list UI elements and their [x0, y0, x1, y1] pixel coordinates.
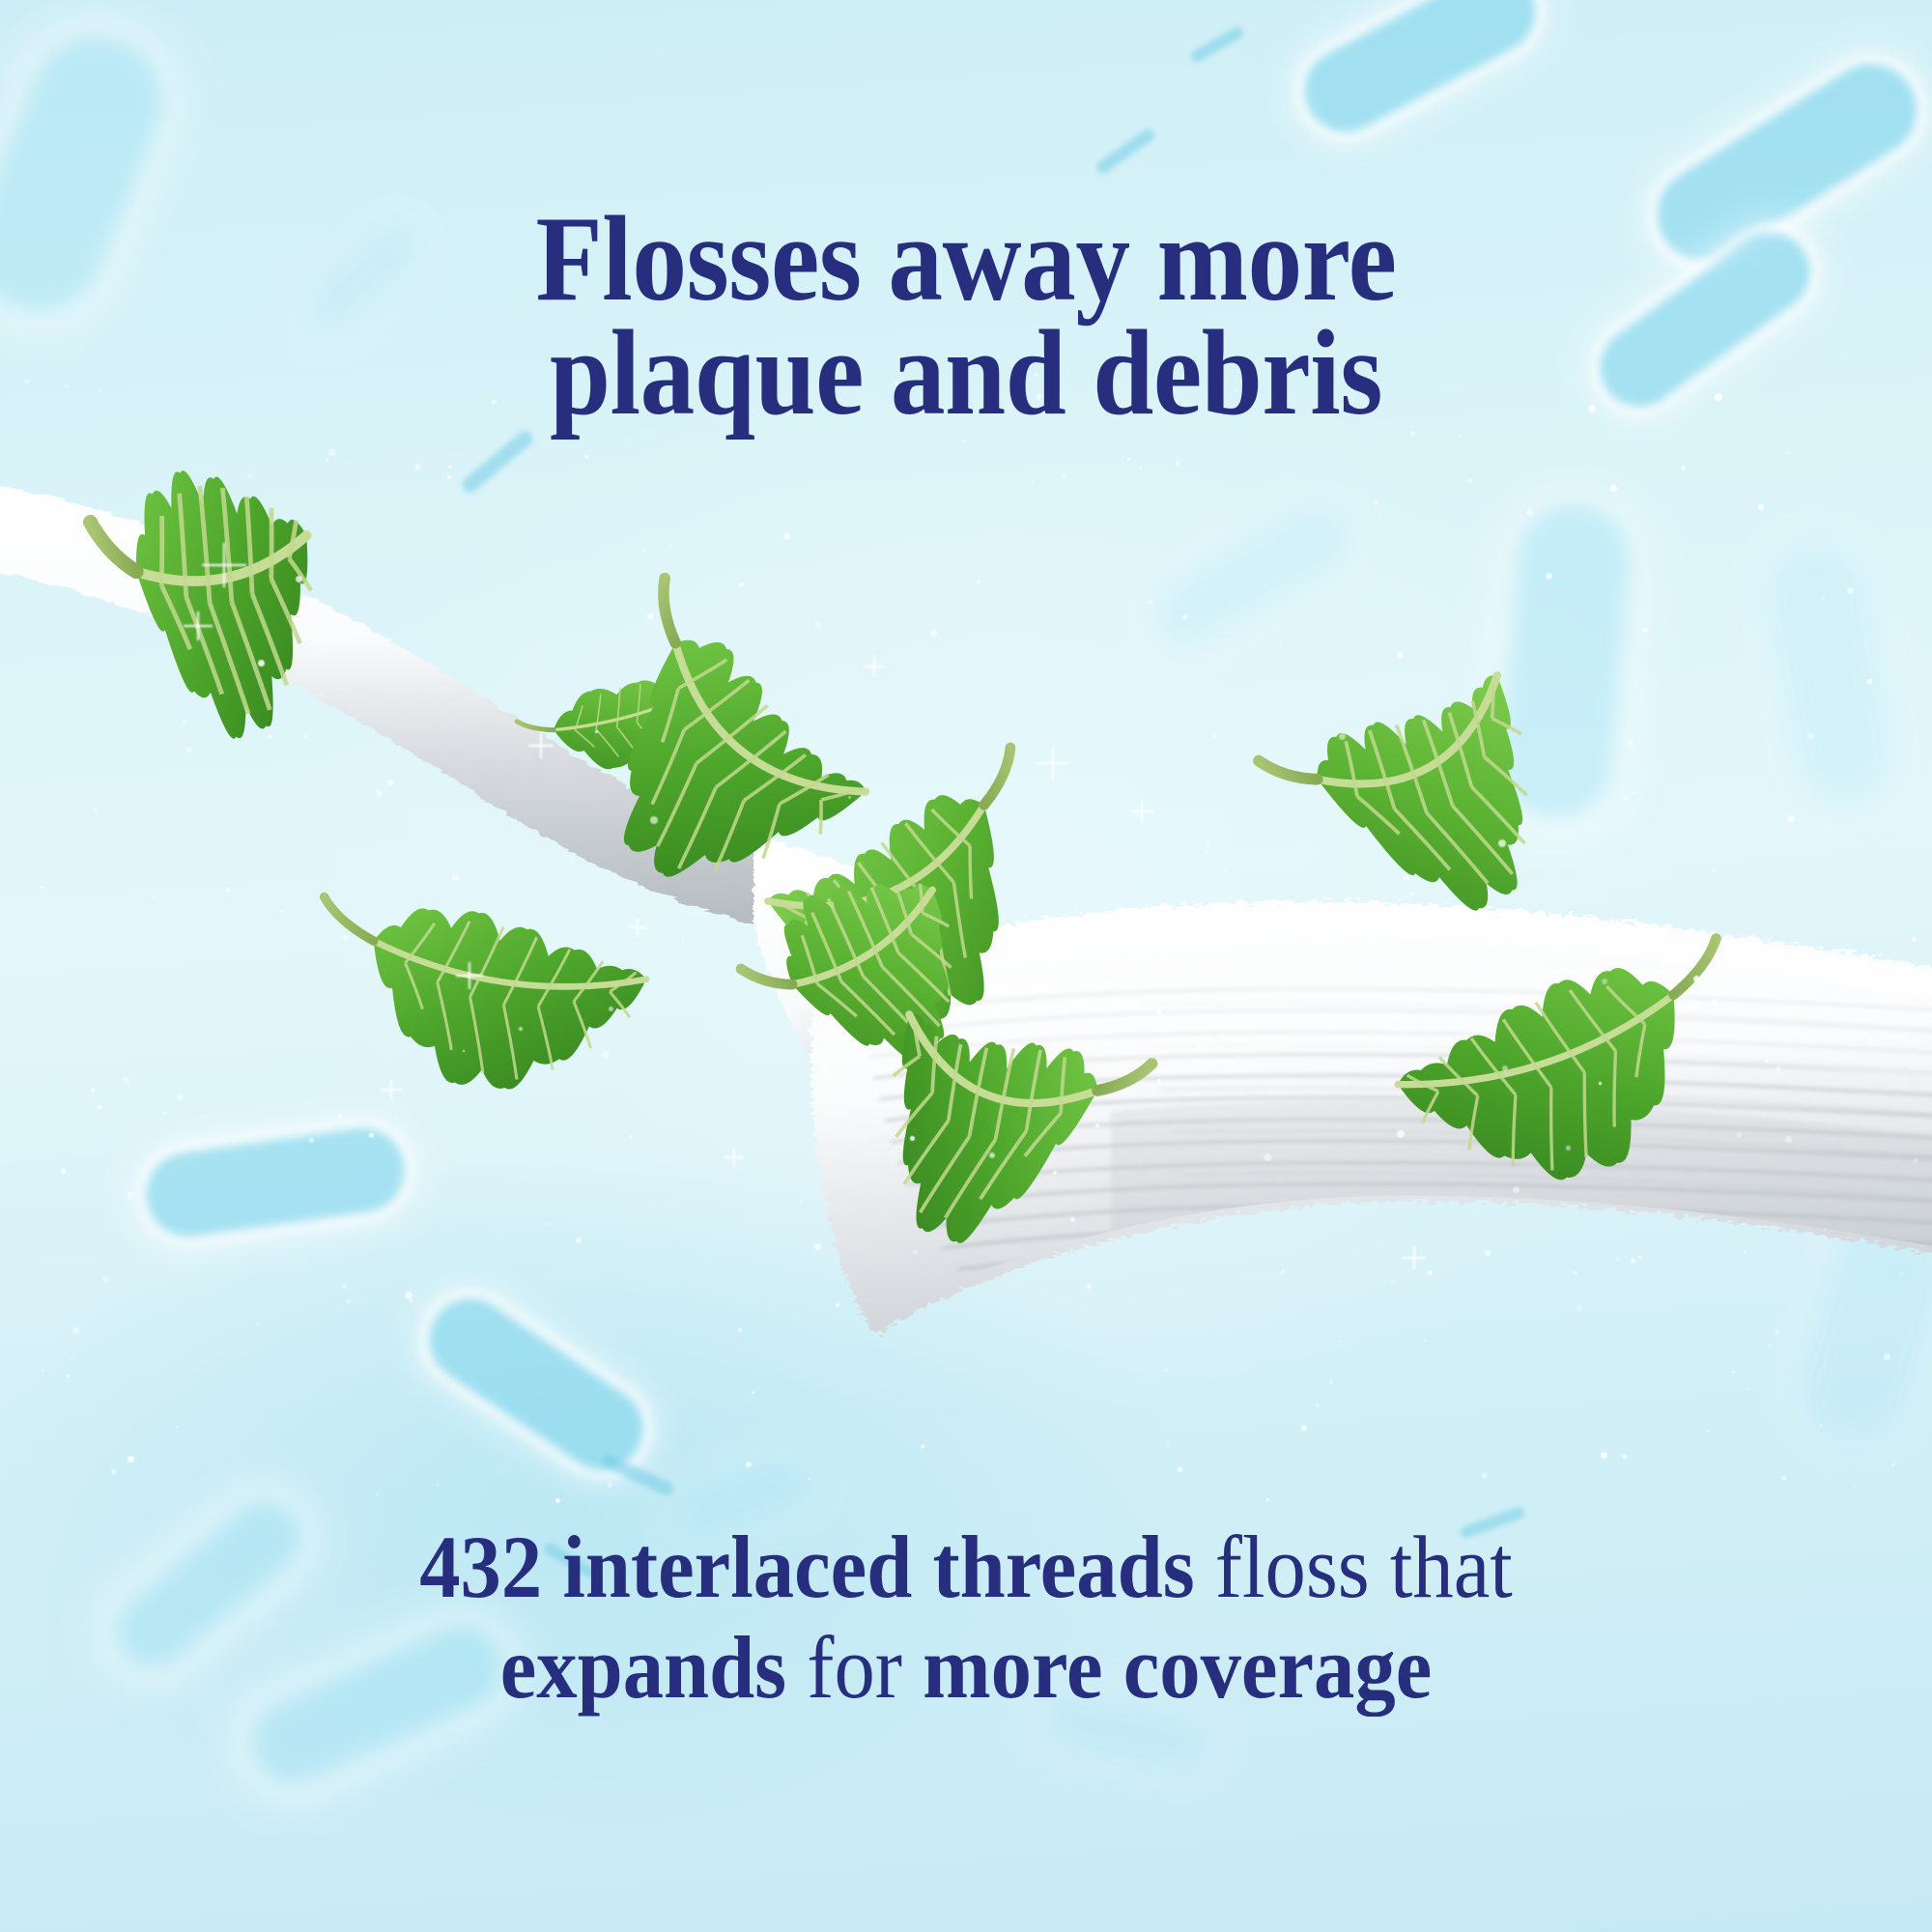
- sparkle-dot-icon: [99, 520, 103, 525]
- sparkle-dot-icon: [1610, 485, 1617, 492]
- marketing-banner: Flosses away more plaque and debris 432 …: [0, 0, 1932, 1932]
- sparkle-dot-icon: [1867, 1037, 1874, 1043]
- sparkle-dot-icon: [930, 630, 937, 637]
- sparkle-dot-icon: [1747, 1388, 1748, 1390]
- sparkle-dot-icon: [1127, 458, 1130, 461]
- sparkle-dot-icon: [921, 1444, 925, 1449]
- sparkle-dot-icon: [752, 1391, 754, 1394]
- more-coverage-phrase: more coverage: [923, 1618, 1432, 1717]
- sparkle-dot-icon: [1775, 1330, 1779, 1335]
- sparkle-dot-icon: [98, 1105, 101, 1109]
- sparkle-dot-icon: [1264, 1153, 1271, 1161]
- floss-that-phrase: floss that: [1195, 1518, 1513, 1616]
- sparkle-dot-icon: [1891, 1463, 1894, 1466]
- sparkle-dot-icon: [95, 809, 98, 811]
- sparkle-dot-icon: [1375, 500, 1378, 504]
- benefit-statement: 432 interlaced threads floss that expand…: [77, 1517, 1855, 1718]
- expands-word: expands: [500, 1618, 786, 1717]
- sparkle-dot-icon: [1681, 466, 1686, 470]
- sparkle-dot-icon: [1301, 1425, 1307, 1431]
- sparkle-dot-icon: [201, 1116, 203, 1118]
- sparkle-dot-icon: [682, 936, 684, 938]
- sparkle-dot-icon: [1785, 1136, 1792, 1143]
- sparkle-dot-icon: [1338, 1340, 1340, 1342]
- sparkle-dot-icon: [1424, 1340, 1426, 1342]
- sparkle-dot-icon: [809, 1478, 810, 1480]
- sparkle-dot-icon: [1631, 1259, 1635, 1264]
- sparkle-dot-icon: [1224, 868, 1227, 871]
- sparkle-dot-icon: [555, 1498, 560, 1503]
- sparkle-dot-icon: [1847, 587, 1854, 594]
- sparkle-dot-icon: [1219, 1046, 1221, 1048]
- sparkle-dot-icon: [647, 613, 653, 619]
- sparkle-dot-icon: [1713, 869, 1716, 872]
- sparkle-dot-icon: [153, 896, 155, 898]
- sparkle-dot-icon: [1485, 1250, 1491, 1256]
- sparkle-dot-icon: [342, 1284, 347, 1289]
- sparkle-dot-icon: [1562, 947, 1568, 952]
- sparkle-dot-icon: [1599, 1082, 1602, 1085]
- sparkle-dot-icon: [1397, 652, 1403, 658]
- sparkle-dot-icon: [1566, 1146, 1571, 1151]
- sparkle-dot-icon: [1410, 431, 1415, 436]
- sparkle-dot-icon: [343, 934, 349, 940]
- sparkle-dot-icon: [436, 1484, 439, 1487]
- sparkle-dot-icon: [1197, 1044, 1204, 1051]
- sparkle-dot-icon: [309, 1138, 314, 1143]
- sparkle-dot-icon: [608, 1483, 612, 1488]
- sparkle-dot-icon: [65, 384, 69, 387]
- sparkle-star-icon: [629, 919, 646, 936]
- sparkle-dot-icon: [1788, 815, 1795, 822]
- sparkle-dot-icon: [746, 1462, 752, 1467]
- sparkle-dot-icon: [163, 1112, 166, 1115]
- sparkle-dot-icon: [25, 380, 29, 384]
- sparkle-dot-icon: [1206, 842, 1211, 848]
- sparkle-dot-icon: [703, 1266, 705, 1268]
- sparkle-dot-icon: [1404, 875, 1409, 881]
- sparkle-dot-icon: [1573, 1270, 1577, 1275]
- thread-count-phrase: 432 interlaced threads: [419, 1518, 1194, 1616]
- sparkle-dot-icon: [177, 1094, 183, 1100]
- sparkle-dot-icon: [1820, 1424, 1822, 1426]
- sparkle-dot-icon: [848, 796, 851, 799]
- sparkle-dot-icon: [26, 524, 33, 530]
- sparkle-dot-icon: [1167, 1440, 1170, 1443]
- sparkle-dot-icon: [602, 1051, 610, 1059]
- sparkle-dot-icon: [910, 1136, 915, 1141]
- sparkle-star-icon: [864, 656, 885, 677]
- sparkle-dot-icon: [1156, 1009, 1161, 1014]
- sparkle-dot-icon: [1098, 586, 1100, 588]
- sparkle-star-icon: [724, 1148, 744, 1167]
- sparkle-star-icon: [528, 733, 554, 758]
- sparkle-dot-icon: [650, 816, 658, 824]
- benefit-row-2: expands for more coverage: [77, 1617, 1855, 1718]
- sparkle-dot-icon: [1744, 1250, 1747, 1253]
- sparkle-dot-icon: [1637, 1255, 1642, 1260]
- sparkle-dot-icon: [629, 1135, 633, 1139]
- sparkle-dot-icon: [977, 580, 980, 583]
- headline-line-2: plaque and debris: [97, 317, 1835, 431]
- page-title: Flosses away more plaque and debris: [97, 203, 1835, 431]
- sparkle-dot-icon: [1397, 1130, 1405, 1138]
- sparkle-dot-icon: [1758, 504, 1764, 510]
- sparkle-dot-icon: [576, 1237, 582, 1243]
- sparkle-dot-icon: [1808, 733, 1814, 739]
- sparkle-dot-icon: [338, 1114, 342, 1118]
- sparkle-dot-icon: [668, 545, 670, 547]
- sparkle-dot-icon: [280, 910, 283, 913]
- sparkle-dot-icon: [1176, 461, 1180, 466]
- sparkle-dot-icon: [440, 1085, 442, 1087]
- sparkle-dot-icon: [1408, 909, 1416, 917]
- sparkle-dot-icon: [1157, 1079, 1161, 1083]
- sparkle-dot-icon: [1821, 595, 1825, 599]
- sparkle-dot-icon: [405, 1292, 412, 1299]
- sparkle-dot-icon: [1782, 1476, 1786, 1480]
- sparkle-dot-icon: [248, 474, 253, 479]
- sparkle-star-icon: [456, 962, 483, 989]
- sparkle-dot-icon: [1070, 1217, 1075, 1222]
- sparkle-dot-icon: [609, 1007, 613, 1011]
- sparkle-dot-icon: [1754, 978, 1761, 984]
- sparkle-dot-icon: [127, 1191, 134, 1199]
- sparkle-dot-icon: [1428, 1270, 1433, 1275]
- sparkle-dot-icon: [128, 1456, 134, 1463]
- sparkle-dot-icon: [1642, 628, 1647, 633]
- sparkle-star-icon: [381, 1079, 402, 1100]
- sparkle-dot-icon: [1912, 937, 1917, 942]
- sparkle-dot-icon: [1329, 1380, 1333, 1384]
- sparkle-dot-icon: [1482, 1473, 1487, 1478]
- sparkle-dot-icon: [1460, 436, 1462, 438]
- sparkle-dot-icon: [913, 1250, 918, 1255]
- sparkle-dot-icon: [258, 660, 265, 667]
- sparkle-dot-icon: [988, 1186, 990, 1188]
- sparkle-star-icon: [184, 611, 213, 640]
- sparkle-dot-icon: [1526, 509, 1533, 516]
- sparkle-dot-icon: [67, 1375, 70, 1378]
- sparkle-dot-icon: [387, 780, 393, 785]
- sparkle-dot-icon: [303, 734, 307, 738]
- sparkle-dot-icon: [1626, 738, 1634, 746]
- sparkle-dot-icon: [1712, 999, 1718, 1005]
- sparkle-dot-icon: [463, 1050, 465, 1052]
- sparkle-star-icon: [202, 543, 246, 587]
- sparkle-dot-icon: [1732, 1371, 1735, 1374]
- sparkle-dot-icon: [447, 475, 451, 479]
- sparkle-star-icon: [1403, 1246, 1426, 1269]
- sparkle-dot-icon: [1246, 916, 1252, 922]
- sparkle-dot-icon: [61, 1169, 66, 1174]
- sparkle-dot-icon: [1498, 839, 1506, 847]
- sparkle-dot-icon: [1737, 1132, 1742, 1137]
- sparkle-dot-icon: [1601, 1452, 1607, 1459]
- sparkle-dot-icon: [226, 888, 230, 892]
- sparkle-dot-icon: [992, 1008, 994, 1009]
- sparkle-dot-icon: [1900, 1273, 1902, 1275]
- sparkle-dot-icon: [1622, 1454, 1627, 1459]
- sparkle-dot-icon: [1867, 679, 1872, 684]
- sparkle-star-icon: [1037, 747, 1069, 780]
- sparkle-dot-icon: [872, 1103, 877, 1108]
- sparkle-dot-icon: [409, 1298, 413, 1303]
- for-word: for: [786, 1618, 923, 1717]
- sparkle-dot-icon: [1053, 1171, 1057, 1175]
- sparkle-star-icon: [1130, 800, 1153, 823]
- sparkle-dot-icon: [1213, 734, 1217, 738]
- sparkle-dot-icon: [1126, 1002, 1131, 1007]
- sparkle-dot-icon: [1467, 478, 1472, 483]
- sparkle-dot-icon: [102, 1276, 109, 1283]
- sparkle-dot-icon: [1787, 451, 1790, 454]
- sparkle-dot-icon: [186, 747, 192, 753]
